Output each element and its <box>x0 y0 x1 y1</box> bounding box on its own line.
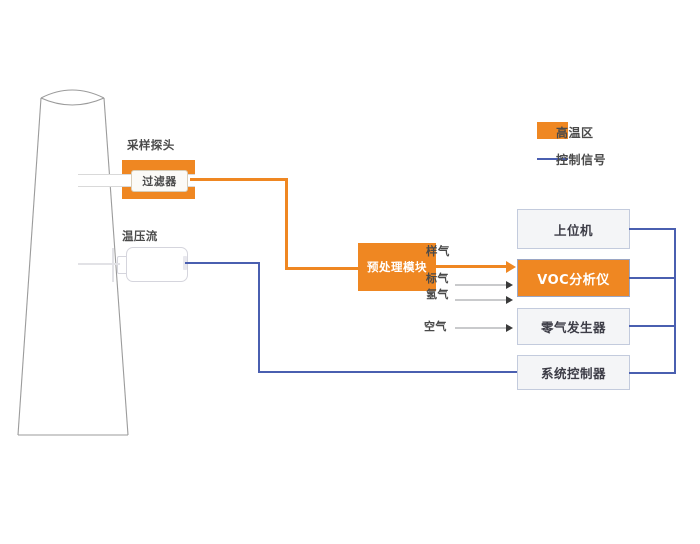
gas-line-air <box>455 327 507 329</box>
pretreatment-module: 预处理模块 <box>358 243 436 291</box>
bus-line-analyzer <box>629 277 676 279</box>
gas-arrow-air <box>506 324 513 332</box>
legend-label-control-signal: 控制信号 <box>556 151 606 168</box>
sensor-body <box>126 247 188 282</box>
gas-line-standard <box>455 284 507 286</box>
unit-zero-air-generator[interactable]: 零气发生器 <box>517 308 630 345</box>
gas-line-hydrogen <box>455 299 507 301</box>
gas-label-sample: 样气 <box>426 243 450 259</box>
gas-line-sample <box>436 265 508 268</box>
control-line-from-sensor <box>185 262 260 264</box>
gas-label-standard: 标气 <box>426 270 449 286</box>
gas-label-hydrogen: 氢气 <box>426 286 449 302</box>
control-line-vertical <box>258 262 260 373</box>
sample-line-from-probe <box>190 178 288 181</box>
bus-line-zero-air <box>629 325 676 327</box>
probe-title: 采样探头 <box>127 137 175 153</box>
unit-voc-analyzer[interactable]: VOC分析仪 <box>517 259 630 297</box>
sensor-stem-tip <box>112 248 114 282</box>
filter-capsule: 过滤器 <box>131 170 188 192</box>
sample-line-to-pretreatment <box>285 267 360 270</box>
gas-arrow-standard <box>506 281 513 289</box>
control-line-to-controller <box>258 371 518 373</box>
unit-host-computer[interactable]: 上位机 <box>517 209 630 249</box>
gas-label-air: 空气 <box>424 318 447 334</box>
sample-line-vertical <box>285 178 288 269</box>
sensor-title: 温压流 <box>122 228 158 244</box>
gas-arrow-sample <box>506 261 516 273</box>
bus-line-vertical <box>674 228 676 373</box>
bus-line-host <box>629 228 676 230</box>
gas-arrow-hydrogen <box>506 296 513 304</box>
unit-system-controller[interactable]: 系统控制器 <box>517 355 630 390</box>
diagram-canvas: 采样探头 过滤器 温压流 预处理模块 样气 标气 氢气 空气 上位机 VOC分析… <box>0 0 700 544</box>
bus-line-controller <box>629 372 676 374</box>
sensor-stem <box>78 263 120 265</box>
legend-label-high-temp: 高温区 <box>556 124 594 141</box>
